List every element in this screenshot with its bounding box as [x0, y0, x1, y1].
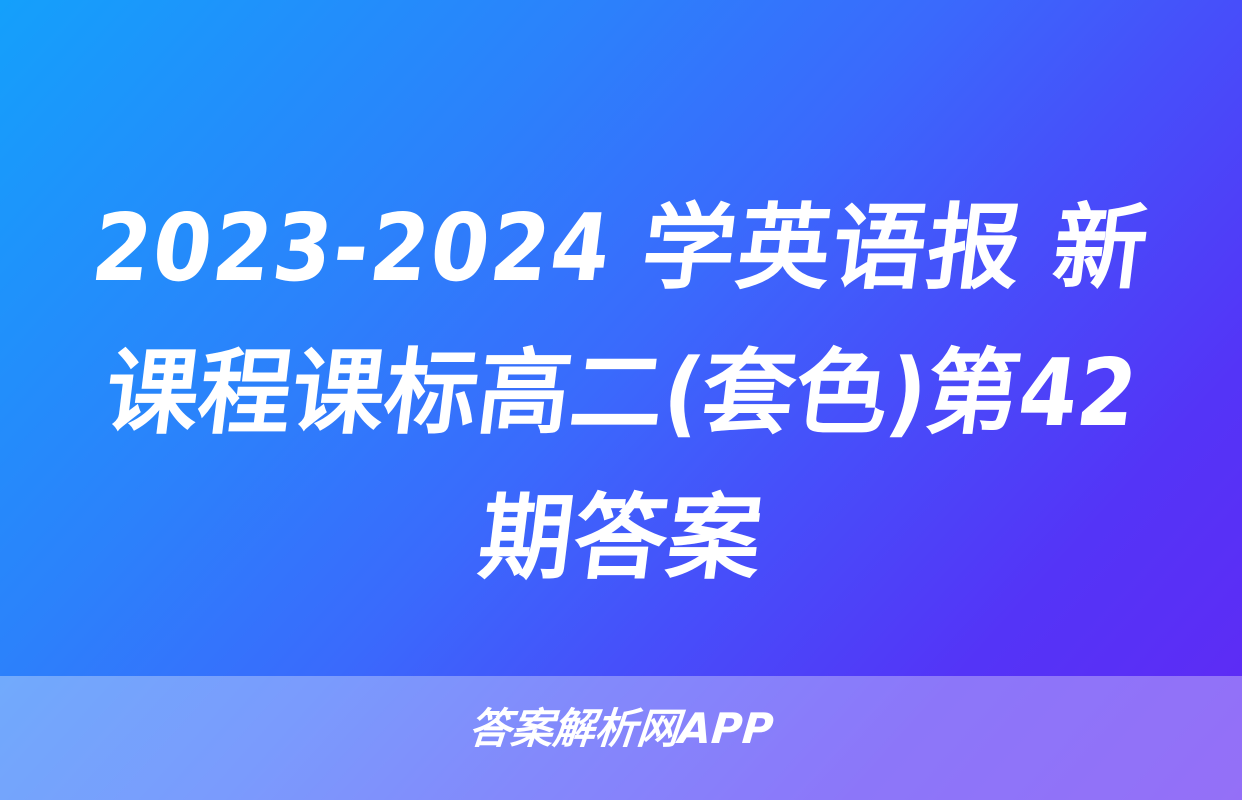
title-line-1: 2023-2024 学英语报 新: [47, 176, 1195, 321]
footer-brand-label: 答案解析网APP: [467, 706, 775, 752]
footer-brand-band: 答案解析网APP: [0, 676, 1242, 800]
title-line-2: 课程课标高二(套色)第42: [47, 321, 1195, 466]
poster-canvas: 2023-2024 学英语报 新 课程课标高二(套色)第42 期答案 答案解析网…: [0, 0, 1242, 800]
title-line-3: 期答案: [47, 466, 1195, 611]
page-title: 2023-2024 学英语报 新 课程课标高二(套色)第42 期答案: [0, 176, 1242, 611]
